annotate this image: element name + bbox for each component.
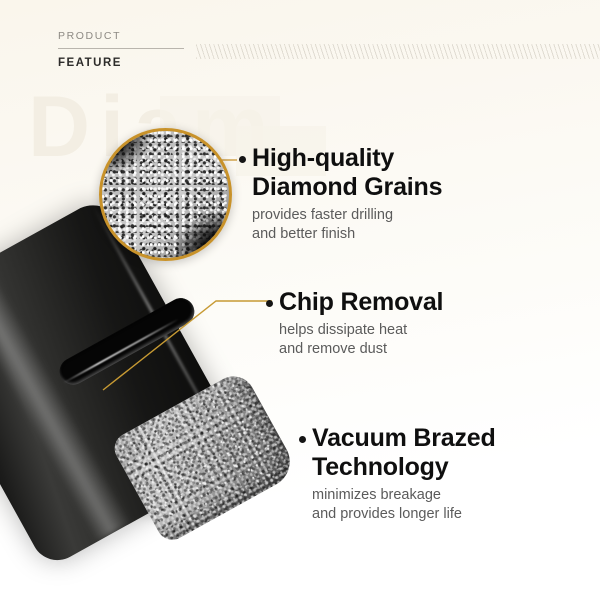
bullet-icon — [299, 436, 306, 443]
header-eyebrow: PRODUCT — [58, 30, 184, 48]
feature-description-line2: and remove dust — [279, 340, 443, 359]
diagonal-hatch-decoration — [196, 44, 600, 59]
body-highlight — [0, 260, 132, 543]
feature-block-diamond-grains: High-quality Diamond Grains provides fas… — [239, 144, 442, 244]
feature-title-line1: Vacuum Brazed — [312, 424, 496, 453]
bullet-icon — [266, 300, 273, 307]
feature-description-line1: minimizes breakage — [312, 486, 496, 505]
feature-description-line1: provides faster drilling — [252, 206, 442, 225]
bullet-icon — [239, 156, 246, 163]
header: PRODUCT FEATURE — [58, 30, 184, 69]
feature-description-line2: and better finish — [252, 225, 442, 244]
diamond-grain-closeup-inset — [99, 128, 232, 261]
feature-description-line1: helps dissipate heat — [279, 321, 443, 340]
feature-description: provides faster drilling and better fini… — [252, 206, 442, 244]
feature-block-chip-removal: Chip Removal helps dissipate heat and re… — [266, 288, 443, 359]
inset-shadow-top-left — [99, 128, 150, 174]
feature-title: Vacuum Brazed Technology — [312, 424, 496, 482]
feature-title: High-quality Diamond Grains — [252, 144, 442, 202]
feature-description: helps dissipate heat and remove dust — [279, 321, 443, 359]
feature-description: minimizes breakage and provides longer l… — [312, 486, 496, 524]
product-feature-infographic: Diam PRODUCT FEATURE — [0, 0, 600, 600]
feature-title-line2: Technology — [312, 453, 496, 482]
feature-title-line1: Chip Removal — [279, 288, 443, 317]
inset-shadow-bottom-right — [176, 212, 232, 261]
feature-title: Chip Removal — [279, 288, 443, 317]
feature-block-vacuum-brazed: Vacuum Brazed Technology minimizes break… — [299, 424, 496, 524]
feature-description-line2: and provides longer life — [312, 505, 496, 524]
page-title: FEATURE — [58, 49, 184, 69]
feature-title-line2: Diamond Grains — [252, 173, 442, 202]
feature-title-line1: High-quality — [252, 144, 442, 173]
drill-bit-illustration — [0, 232, 320, 572]
